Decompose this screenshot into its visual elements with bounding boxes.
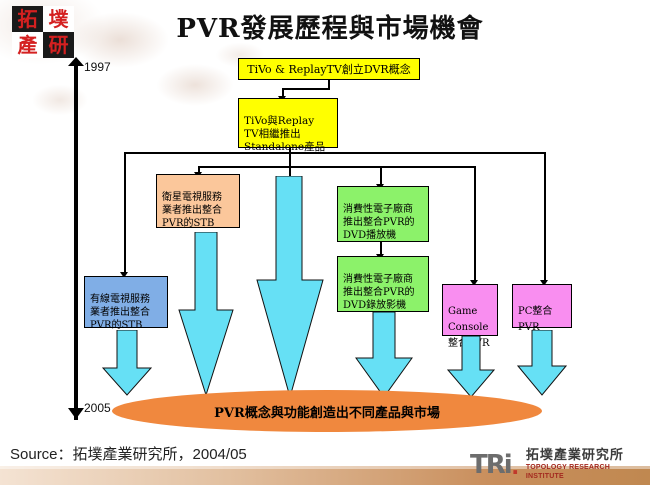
outcome-arrow-satellite-stb (178, 232, 234, 396)
outcome-arrow-pc-pvr (517, 330, 567, 396)
node-game-console[interactable]: Game Console 整合PVR (442, 284, 498, 336)
timeline-start-year: 1997 (84, 60, 111, 74)
outcome-arrow-game-console (447, 336, 495, 398)
node-origin-label: TiVo & ReplayTV創立DVR概念 (247, 63, 410, 76)
outcome-arrow-dvd-recorder (355, 312, 413, 398)
connector-origin-horiz (282, 88, 330, 90)
node-standalone-label: TiVo與Replay TV相繼推出 Standalone產品 (244, 115, 325, 153)
connector-bus-to-cable (124, 152, 126, 274)
tri-dot-icon: . (512, 450, 519, 481)
logo-char-4: 研 (43, 32, 74, 58)
outcome-label: PVR概念與功能創造出不同產品與市場 (214, 402, 440, 421)
slide-canvas: 拓 墣 產 研 PVR發展歷程與市場機會 1997 2005 TiVo & Re… (0, 0, 650, 485)
logo-char-3: 產 (12, 32, 43, 58)
timeline-axis (74, 60, 78, 420)
tri-brand-en: TOPOLOGY RESEARCH INSTITUTE (526, 463, 646, 481)
logo-char-1: 拓 (12, 6, 43, 32)
node-satellite-stb-label: 衛星電視服務 業者推出整合 PVR的STB (162, 192, 222, 229)
connector-bus-to-game (474, 166, 476, 282)
outcome-arrow-standalone-main (256, 176, 324, 398)
connector-bus-to-dvdplayer (380, 166, 382, 186)
node-dvd-recorder[interactable]: 消費性電子廠商 推出整合PVR的 DVD錄放影機 (337, 256, 429, 312)
connector-bus-to-pc (544, 152, 546, 282)
outcome-ellipse: PVR概念與功能創造出不同產品與市場 (112, 390, 542, 432)
node-dvd-player-label: 消費性電子廠商 推出整合PVR的 DVD播放機 (343, 204, 414, 241)
outcome-arrow-cable-stb (102, 330, 152, 396)
timeline-arrow-bottom (68, 408, 84, 419)
logo-char-2: 墣 (43, 6, 74, 32)
tri-brand-cn: 拓墣產業研究所 (526, 449, 646, 463)
node-origin[interactable]: TiVo & ReplayTV創立DVR概念 (238, 58, 420, 80)
node-dvd-player[interactable]: 消費性電子廠商 推出整合PVR的 DVD播放機 (337, 186, 429, 242)
connector-bus-top (124, 152, 546, 154)
timeline-end-year: 2005 (84, 401, 111, 415)
tri-brand-text: 拓墣產業研究所 TOPOLOGY RESEARCH INSTITUTE (526, 449, 646, 481)
node-pc-pvr[interactable]: PC整合 PVR (512, 284, 572, 328)
node-dvd-recorder-label: 消費性電子廠商 推出整合PVR的 DVD錄放影機 (343, 274, 414, 311)
tri-brand-logo: TRi . 拓墣產業研究所 TOPOLOGY RESEARCH INSTITUT… (470, 450, 646, 480)
connector-bus-mid (198, 166, 475, 168)
company-logo: 拓 墣 產 研 (12, 6, 74, 58)
node-satellite-stb[interactable]: 衛星電視服務 業者推出整合 PVR的STB (156, 174, 240, 228)
page-title: PVR發展歷程與市場機會 (120, 8, 540, 45)
tri-wordmark: TRi (470, 452, 511, 478)
node-standalone[interactable]: TiVo與Replay TV相繼推出 Standalone產品 (238, 98, 338, 148)
node-cable-stb-label: 有線電視服務 業者推出整合 PVR的STB (90, 294, 150, 331)
source-note: Source：拓墣產業研究所，2004/05 (10, 443, 247, 464)
node-pc-pvr-label: PC整合 PVR (518, 306, 552, 333)
node-cable-stb[interactable]: 有線電視服務 業者推出整合 PVR的STB (84, 276, 168, 328)
